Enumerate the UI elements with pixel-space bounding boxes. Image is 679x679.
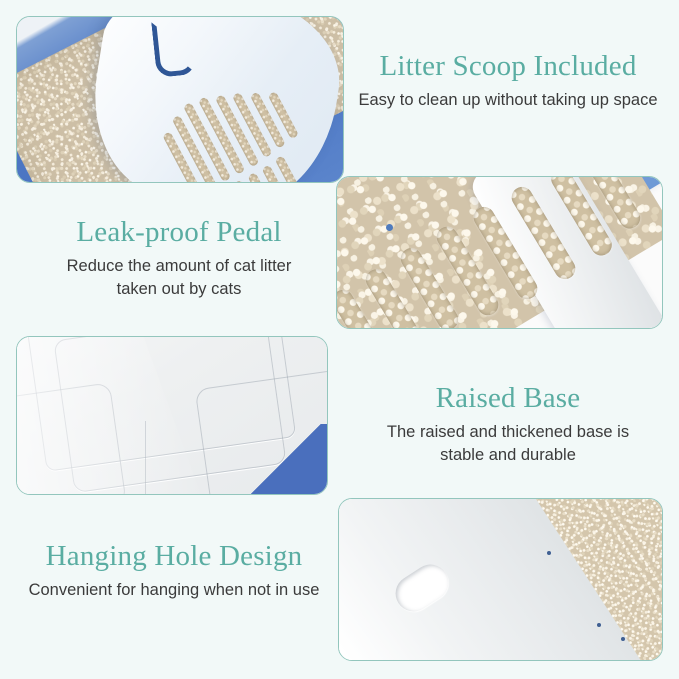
- feature-description-raised-base: The raised and thickened base is stable …: [352, 421, 664, 465]
- litter-speck: [597, 623, 601, 627]
- feature-description-litter-scoop-included: Easy to clean up without taking up space: [352, 89, 664, 111]
- feature-title-raised-base: Raised Base: [352, 382, 664, 414]
- feature-text-raised-base: Raised Base The raised and thickened bas…: [352, 382, 664, 466]
- litter-speck: [386, 224, 393, 231]
- litter-speck: [621, 637, 625, 641]
- feature-description-leak-proof-pedal: Reduce the amount of cat litter taken ou…: [26, 255, 332, 299]
- litter-speck: [547, 551, 551, 555]
- feature-title-hanging-hole-design: Hanging Hole Design: [14, 540, 334, 572]
- feature-image-raised-base: [16, 336, 328, 495]
- product-feature-infographic: Litter Scoop Included Easy to clean up w…: [0, 0, 679, 679]
- feature-description-hanging-hole-design: Convenient for hanging when not in use: [14, 579, 334, 601]
- feature-text-leak-proof-pedal: Leak-proof Pedal Reduce the amount of ca…: [26, 216, 332, 300]
- feature-image-hanging-hole-design: [338, 498, 663, 661]
- scoop-hook-hole-icon: [151, 18, 197, 78]
- litter-box-blue-corner: [239, 424, 327, 494]
- feature-title-litter-scoop-included: Litter Scoop Included: [352, 50, 664, 82]
- feature-text-litter-scoop-included: Litter Scoop Included Easy to clean up w…: [352, 50, 664, 112]
- feature-image-leak-proof-pedal: [336, 176, 663, 329]
- feature-text-hanging-hole-design: Hanging Hole Design Convenient for hangi…: [14, 540, 334, 602]
- pedal-slot-group: [337, 177, 662, 328]
- feature-title-leak-proof-pedal: Leak-proof Pedal: [26, 216, 332, 248]
- feature-image-litter-scoop-included: [16, 16, 344, 183]
